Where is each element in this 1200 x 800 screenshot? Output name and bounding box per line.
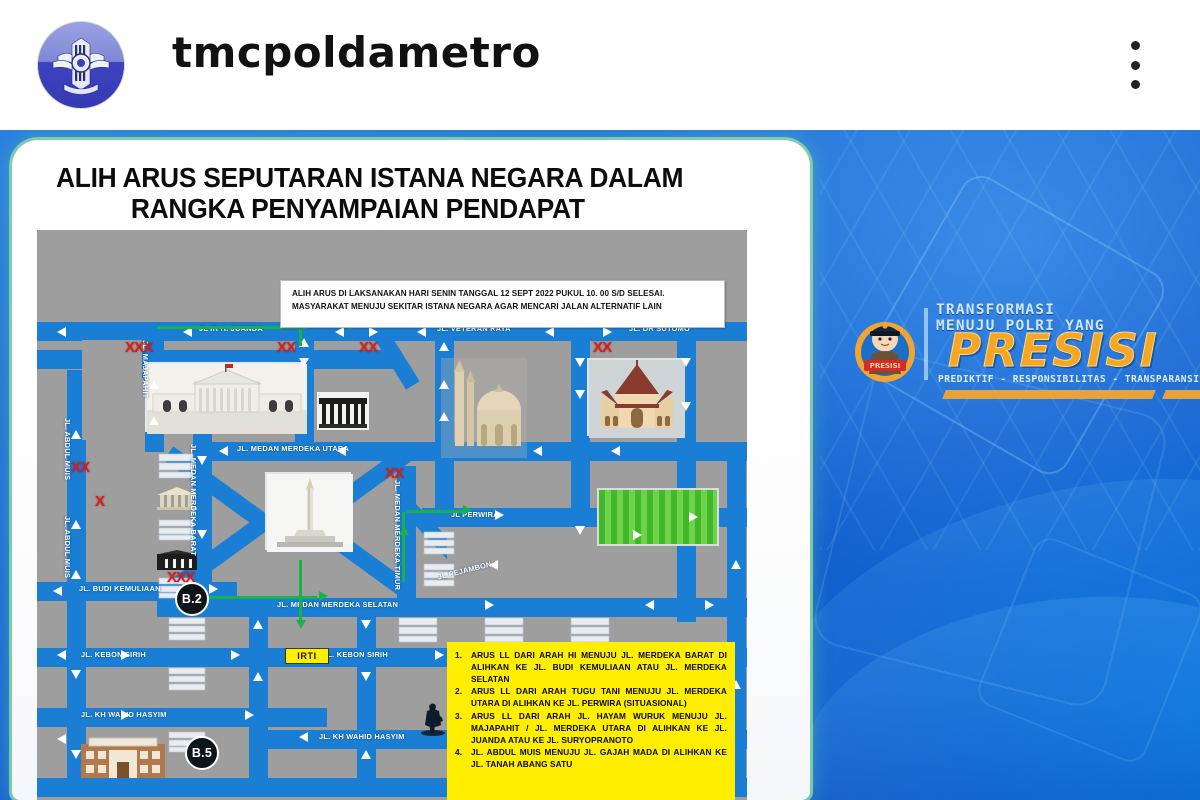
direction-arrow [57, 650, 66, 660]
more-vertical-icon[interactable] [1122, 38, 1148, 92]
avatar[interactable] [38, 22, 124, 108]
direction-arrow [603, 327, 612, 337]
diverted-route-arrow [463, 505, 472, 515]
direction-arrow [245, 710, 254, 720]
diverted-route-line [407, 510, 463, 513]
direction-arrow [575, 526, 585, 535]
direction-arrow [361, 620, 371, 629]
road-closure-x: X X [359, 342, 376, 354]
diverted-route-arrow [296, 620, 306, 629]
road-closure-x: X X [277, 342, 294, 354]
katedral-church-icon [587, 358, 683, 436]
direction-arrow [337, 446, 346, 456]
direction-arrow [495, 510, 504, 520]
direction-arrow [439, 380, 449, 389]
istiqlal-mosque-icon [441, 358, 527, 458]
poster-card: ALIH ARUS SEPUTARAN ISTANA NEGARA DALAM … [12, 140, 810, 800]
post-image: PRESISI TRANSFORMASI MENUJU POLRI YANG P… [0, 130, 1200, 800]
road-closure-x: X X [385, 468, 402, 480]
direction-arrow [197, 456, 207, 465]
legend-item: ARUS LL DARI ARAH HI MENUJU JL. MERDEKA … [453, 650, 727, 685]
direction-arrow [71, 670, 81, 679]
direction-arrow [231, 650, 240, 660]
direction-arrow [681, 358, 691, 367]
direction-arrow [71, 520, 81, 529]
banner-divider [924, 308, 928, 380]
direction-arrow [611, 446, 620, 456]
direction-arrow [731, 560, 741, 569]
direction-arrow [689, 512, 698, 522]
diverted-route-line [299, 326, 302, 346]
banner-accent-bar [942, 390, 1156, 399]
info-line1: ALIH ARUS DI LAKSANAKAN HARI SENIN TANGG… [292, 288, 715, 301]
street-label-merdeka-selatan: JL. MEDAN MERDEKA SELATAN [277, 600, 398, 609]
direction-arrow [489, 560, 498, 570]
street-label-merdeka-timur: JL. MEDAN MERDEKA TIMUR [393, 480, 402, 590]
office-building-icon [167, 616, 207, 642]
diponegoro-statue-icon [420, 700, 446, 736]
legend-box: ARUS LL DARI ARAH HI MENUJU JL. MERDEKA … [447, 642, 735, 800]
road-closure-x: X X [593, 342, 610, 354]
direction-arrow [197, 530, 207, 539]
branding-tagline: PREDIKTIF - RESPONSIBILITAS - TRANSPARAN… [938, 374, 1200, 385]
irti-badge: IRTI [285, 648, 329, 664]
direction-arrow [57, 327, 66, 337]
direction-arrow [121, 710, 130, 720]
street-label-budi-kemuliaan: JL. BUDI KEMULIAAN [79, 584, 161, 593]
direction-arrow [485, 600, 494, 610]
presisi-banner: PRESISI TRANSFORMASI MENUJU POLRI YANG P… [852, 300, 1192, 398]
direction-arrow [253, 672, 263, 681]
office-building-icon [569, 616, 611, 644]
street-label-wahid-hasyim-2: JL. KH WAHID HASYIM [319, 732, 405, 741]
direction-arrow [417, 327, 426, 337]
info-line2: MASYARAKAT MENUJU SEKITAR ISTANA NEGARA … [292, 301, 715, 314]
lapangan-banteng-field [597, 488, 719, 546]
government-building-icon [317, 392, 369, 430]
info-box: ALIH ARUS DI LAKSANAKAN HARI SENIN TANGG… [280, 280, 725, 328]
banner-accent-bar [1162, 390, 1200, 399]
direction-arrow [57, 734, 66, 744]
street-label-merdeka-utara: JL. MEDAN MERDEKA UTARA [237, 444, 349, 453]
poster-title-line2: RANGKA PENYAMPAIAN PENDAPAT [56, 193, 728, 224]
svg-text:PRESISI: PRESISI [870, 362, 901, 370]
office-building-icon [422, 530, 456, 556]
office-building-icon [167, 666, 207, 692]
direction-arrow [71, 750, 81, 759]
office-building-icon [397, 616, 439, 644]
direction-arrow [439, 412, 449, 421]
direction-arrow [219, 446, 228, 456]
branding-line1: TRANSFORMASI [936, 302, 1055, 318]
direction-arrow [209, 584, 218, 594]
direction-arrow [705, 600, 714, 610]
direction-arrow [645, 600, 654, 610]
direction-arrow [121, 650, 130, 660]
direction-arrow [149, 416, 159, 425]
direction-arrow [439, 342, 449, 351]
diverted-route-line [402, 512, 405, 582]
monas-monument-icon [265, 472, 351, 550]
direction-arrow [53, 586, 62, 596]
office-building-icon [483, 616, 525, 644]
direction-arrow [681, 402, 691, 411]
direction-arrow [335, 327, 344, 337]
legend-item: JL. ABDUL MUIS MENUJU JL. GAJAH MADA DI … [453, 747, 727, 771]
direction-arrow [299, 358, 309, 367]
direction-arrow [575, 358, 585, 367]
direction-arrow [299, 732, 308, 742]
street-label-kebon-sirih-2: JL. KEBON SIRIH [323, 650, 388, 659]
account-username[interactable]: tmcpoldametro [172, 28, 541, 77]
police-logo-icon [38, 22, 124, 108]
poster-title: ALIH ARUS SEPUTARAN ISTANA NEGARA DALAM … [56, 162, 728, 224]
direction-arrow [435, 650, 444, 660]
street-label-kebon-sirih-1: JL. KEBON SIRIH [81, 650, 146, 659]
legend-item: ARUS LL DARI ARAH TUGU TANI MENUJU JL. M… [453, 686, 727, 710]
diverted-route-line [299, 560, 302, 620]
road-closure-x: X [95, 496, 103, 508]
direction-arrow [361, 672, 371, 681]
legend-list: ARUS LL DARI ARAH HI MENUJU JL. MERDEKA … [453, 650, 727, 771]
road-closure-x: X X X [125, 342, 151, 354]
post-header: tmcpoldametro [0, 0, 1200, 130]
direction-arrow [71, 570, 81, 579]
istana-negara-building [145, 362, 305, 432]
traffic-diversion-map: JL IR H. JUANDA JL. VETERAN RAYA JL. DR … [37, 230, 747, 800]
direction-arrow [575, 390, 585, 399]
direction-arrow [545, 327, 554, 337]
diverted-route-arrow [399, 526, 409, 535]
direction-arrow [361, 750, 371, 759]
road-closure-x: X X [71, 462, 88, 474]
post-marker-b5: B.5 [185, 736, 219, 770]
legend-item: ARUS LL DARI ARAH JL. HAYAM WURUK MENUJU… [453, 711, 727, 746]
direction-arrow [149, 380, 159, 389]
direction-arrow [369, 327, 378, 337]
poster-title-line1: ALIH ARUS SEPUTARAN ISTANA NEGARA DALAM [56, 162, 728, 193]
direction-arrow [633, 530, 642, 540]
post-marker-b2: B.2 [175, 582, 209, 616]
police-mascot-icon: PRESISI [852, 306, 918, 388]
diverted-route-arrow [319, 591, 328, 601]
branding-word: PRESISI [948, 328, 1159, 373]
direction-arrow [71, 430, 81, 439]
road-merdeka-selatan [157, 598, 747, 617]
direction-arrow [253, 620, 263, 629]
direction-arrow [533, 446, 542, 456]
hotel-building-icon [77, 736, 169, 778]
